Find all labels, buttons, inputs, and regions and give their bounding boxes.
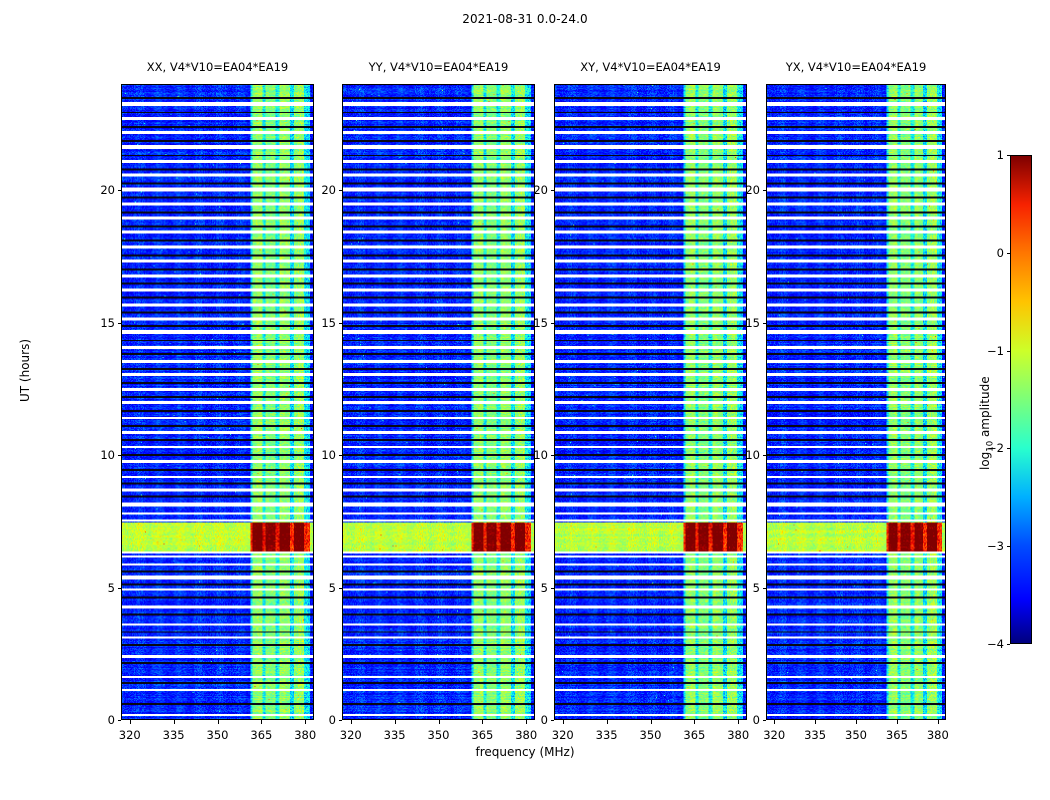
y-tick-label: 10	[296, 448, 336, 462]
x-tick-label: 320	[119, 728, 141, 742]
y-tick-mark	[763, 720, 767, 721]
x-tick-mark	[351, 720, 352, 724]
x-tick-label: 350	[640, 728, 662, 742]
colorbar-label-subscript: 10	[985, 441, 995, 452]
y-tick-mark	[118, 588, 122, 589]
y-tick-label: 10	[75, 448, 115, 462]
colorbar-tick-label: 0	[966, 246, 1004, 260]
y-tick-label: 0	[508, 713, 548, 727]
x-tick-label: 350	[207, 728, 229, 742]
x-tick-mark	[651, 720, 652, 724]
x-tick-label: 320	[763, 728, 785, 742]
colorbar-label-tail: amplitude	[978, 376, 992, 440]
x-tick-mark	[439, 720, 440, 724]
colorbar-tick-label: −4	[966, 637, 1004, 651]
colorbar-tick-mark	[1007, 644, 1011, 645]
x-tick-label: 350	[428, 728, 450, 742]
panel-title-xy: XY, V4*V10=EA04*EA19	[554, 60, 747, 74]
y-tick-mark	[763, 190, 767, 191]
y-tick-label: 15	[508, 316, 548, 330]
colorbar-tick-mark	[1007, 253, 1011, 254]
panel-title-xx: XX, V4*V10=EA04*EA19	[121, 60, 314, 74]
x-tick-mark	[897, 720, 898, 724]
colorbar-label-base: log	[978, 452, 992, 470]
x-tick-label: 380	[294, 728, 316, 742]
y-tick-mark	[118, 720, 122, 721]
y-tick-label: 20	[296, 183, 336, 197]
colorbar-tick-mark	[1007, 546, 1011, 547]
y-tick-mark	[763, 588, 767, 589]
y-tick-label: 15	[296, 316, 336, 330]
dynamic-spectrum-panel-yy	[342, 84, 535, 720]
x-tick-label: 320	[552, 728, 574, 742]
y-tick-label: 20	[720, 183, 760, 197]
y-tick-mark	[763, 323, 767, 324]
figure-suptitle: 2021-08-31 0.0-24.0	[0, 12, 1050, 26]
y-tick-mark	[551, 190, 555, 191]
y-tick-mark	[339, 323, 343, 324]
colorbar-tick-label: −3	[966, 539, 1004, 553]
y-tick-mark	[118, 190, 122, 191]
panel-title-yx: YX, V4*V10=EA04*EA19	[766, 60, 946, 74]
y-tick-mark	[339, 455, 343, 456]
y-tick-label: 5	[508, 581, 548, 595]
x-tick-label: 365	[683, 728, 705, 742]
x-tick-mark	[395, 720, 396, 724]
y-tick-mark	[339, 588, 343, 589]
colorbar-tick-mark	[1007, 448, 1011, 449]
x-tick-mark	[563, 720, 564, 724]
x-tick-label: 365	[886, 728, 908, 742]
x-tick-label: 380	[515, 728, 537, 742]
y-tick-mark	[118, 455, 122, 456]
x-tick-label: 320	[340, 728, 362, 742]
x-tick-label: 335	[163, 728, 185, 742]
y-tick-label: 5	[296, 581, 336, 595]
panel-title-yy: YY, V4*V10=EA04*EA19	[342, 60, 535, 74]
x-tick-mark	[482, 720, 483, 724]
x-tick-mark	[856, 720, 857, 724]
y-tick-mark	[763, 455, 767, 456]
colorbar-tick-label: 1	[966, 148, 1004, 162]
y-axis-label: UT (hours)	[18, 339, 32, 402]
x-tick-mark	[130, 720, 131, 724]
colorbar-tick-mark	[1007, 351, 1011, 352]
y-tick-label: 15	[720, 316, 760, 330]
y-tick-mark	[551, 588, 555, 589]
heatmap-canvas-yy	[343, 85, 534, 719]
figure-canvas: 2021-08-31 0.0-24.0 XX, V4*V10=EA04*EA19…	[0, 0, 1050, 800]
y-tick-label: 5	[75, 581, 115, 595]
x-tick-label: 380	[927, 728, 949, 742]
y-tick-label: 10	[720, 448, 760, 462]
heatmap-canvas-xx	[122, 85, 313, 719]
y-tick-label: 10	[508, 448, 548, 462]
colorbar-tick-label: −1	[966, 344, 1004, 358]
x-tick-mark	[174, 720, 175, 724]
y-tick-mark	[551, 455, 555, 456]
x-tick-mark	[218, 720, 219, 724]
y-tick-label: 20	[508, 183, 548, 197]
y-tick-label: 5	[720, 581, 760, 595]
y-tick-label: 0	[720, 713, 760, 727]
x-tick-mark	[694, 720, 695, 724]
y-tick-mark	[551, 323, 555, 324]
x-axis-label: frequency (MHz)	[0, 745, 1050, 759]
y-tick-mark	[118, 323, 122, 324]
colorbar-label: log10 amplitude	[978, 376, 995, 470]
x-tick-mark	[774, 720, 775, 724]
x-tick-label: 380	[727, 728, 749, 742]
x-tick-mark	[607, 720, 608, 724]
y-tick-label: 0	[75, 713, 115, 727]
x-tick-mark	[938, 720, 939, 724]
x-tick-label: 350	[845, 728, 867, 742]
dynamic-spectrum-panel-yx	[766, 84, 946, 720]
colorbar-tick-mark	[1007, 155, 1011, 156]
colorbar	[1010, 155, 1032, 644]
x-tick-label: 365	[250, 728, 272, 742]
x-tick-mark	[815, 720, 816, 724]
x-tick-label: 335	[596, 728, 618, 742]
y-tick-label: 15	[75, 316, 115, 330]
dynamic-spectrum-panel-xy	[554, 84, 747, 720]
y-tick-label: 0	[296, 713, 336, 727]
y-tick-label: 20	[75, 183, 115, 197]
y-tick-mark	[551, 720, 555, 721]
x-tick-label: 365	[471, 728, 493, 742]
dynamic-spectrum-panel-xx	[121, 84, 314, 720]
heatmap-canvas-xy	[555, 85, 746, 719]
y-tick-mark	[339, 720, 343, 721]
y-tick-mark	[339, 190, 343, 191]
x-tick-mark	[261, 720, 262, 724]
x-tick-label: 335	[384, 728, 406, 742]
x-tick-label: 335	[804, 728, 826, 742]
heatmap-canvas-yx	[767, 85, 945, 719]
